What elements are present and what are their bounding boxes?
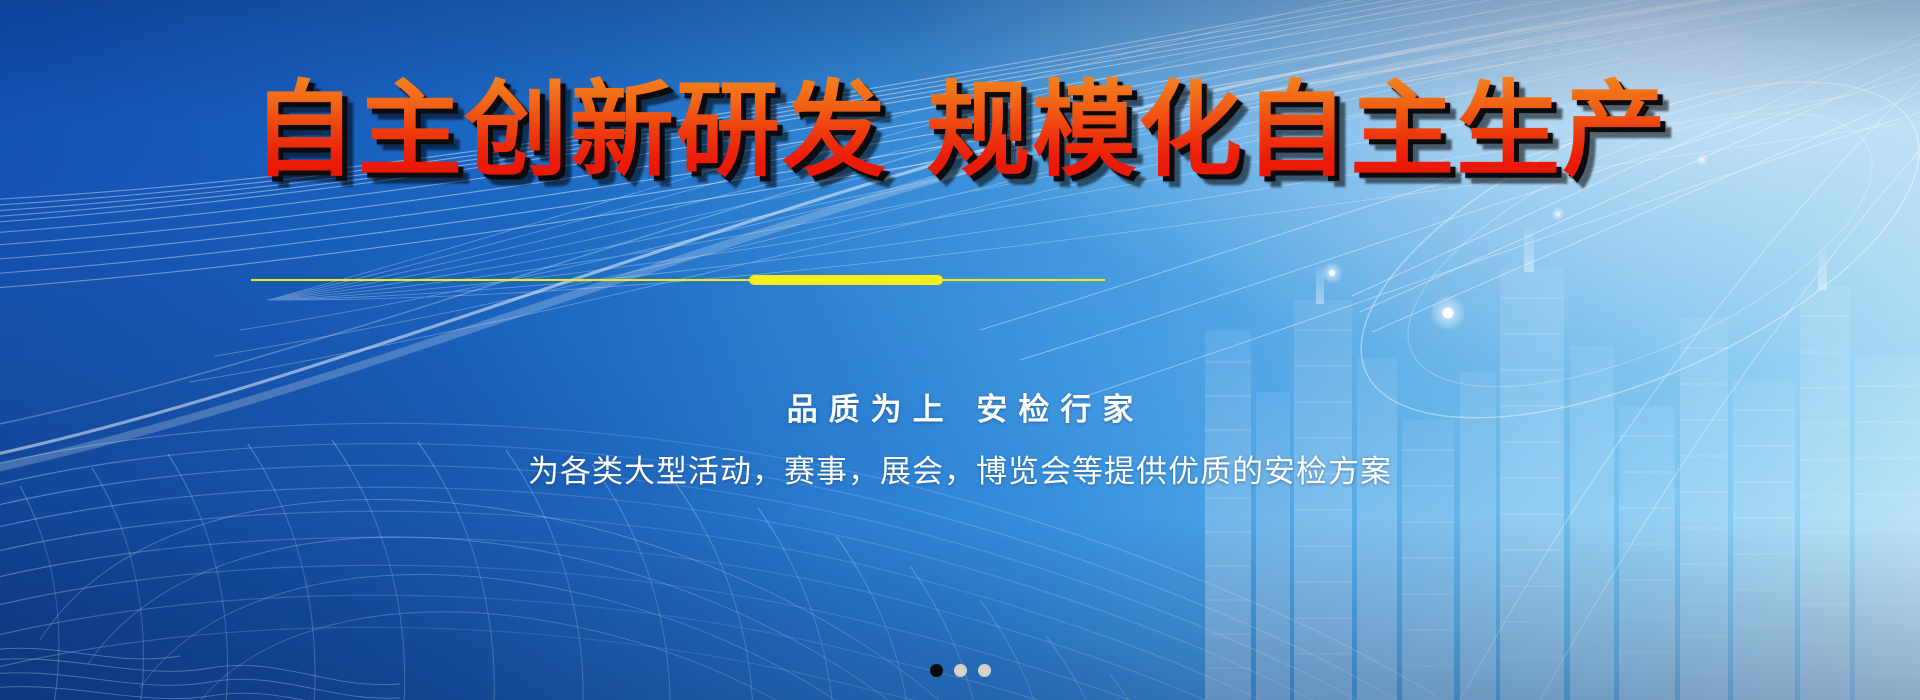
divider-thin-line bbox=[251, 279, 1105, 281]
carousel-dot-2[interactable] bbox=[954, 664, 967, 677]
banner-headline: 自主创新研发 规模化自主生产 bbox=[0, 74, 1920, 186]
hero-banner: 自主创新研发 规模化自主生产 品质为上 安检行家 为各类大型活动，赛事，展会，博… bbox=[0, 0, 1920, 700]
divider bbox=[251, 274, 1105, 286]
divider-thick-segment bbox=[749, 275, 943, 285]
carousel-prev-button[interactable] bbox=[0, 0, 70, 700]
banner-content: 自主创新研发 规模化自主生产 品质为上 安检行家 为各类大型活动，赛事，展会，博… bbox=[0, 0, 1920, 700]
carousel-next-button[interactable] bbox=[1850, 0, 1920, 700]
carousel-dot-1[interactable] bbox=[930, 664, 943, 677]
banner-subtagline: 为各类大型活动，赛事，展会，博览会等提供优质的安检方案 bbox=[0, 446, 1920, 491]
carousel-indicators[interactable] bbox=[0, 664, 1920, 677]
banner-tagline: 品质为上 安检行家 bbox=[0, 384, 1920, 429]
carousel-dot-3[interactable] bbox=[978, 664, 991, 677]
